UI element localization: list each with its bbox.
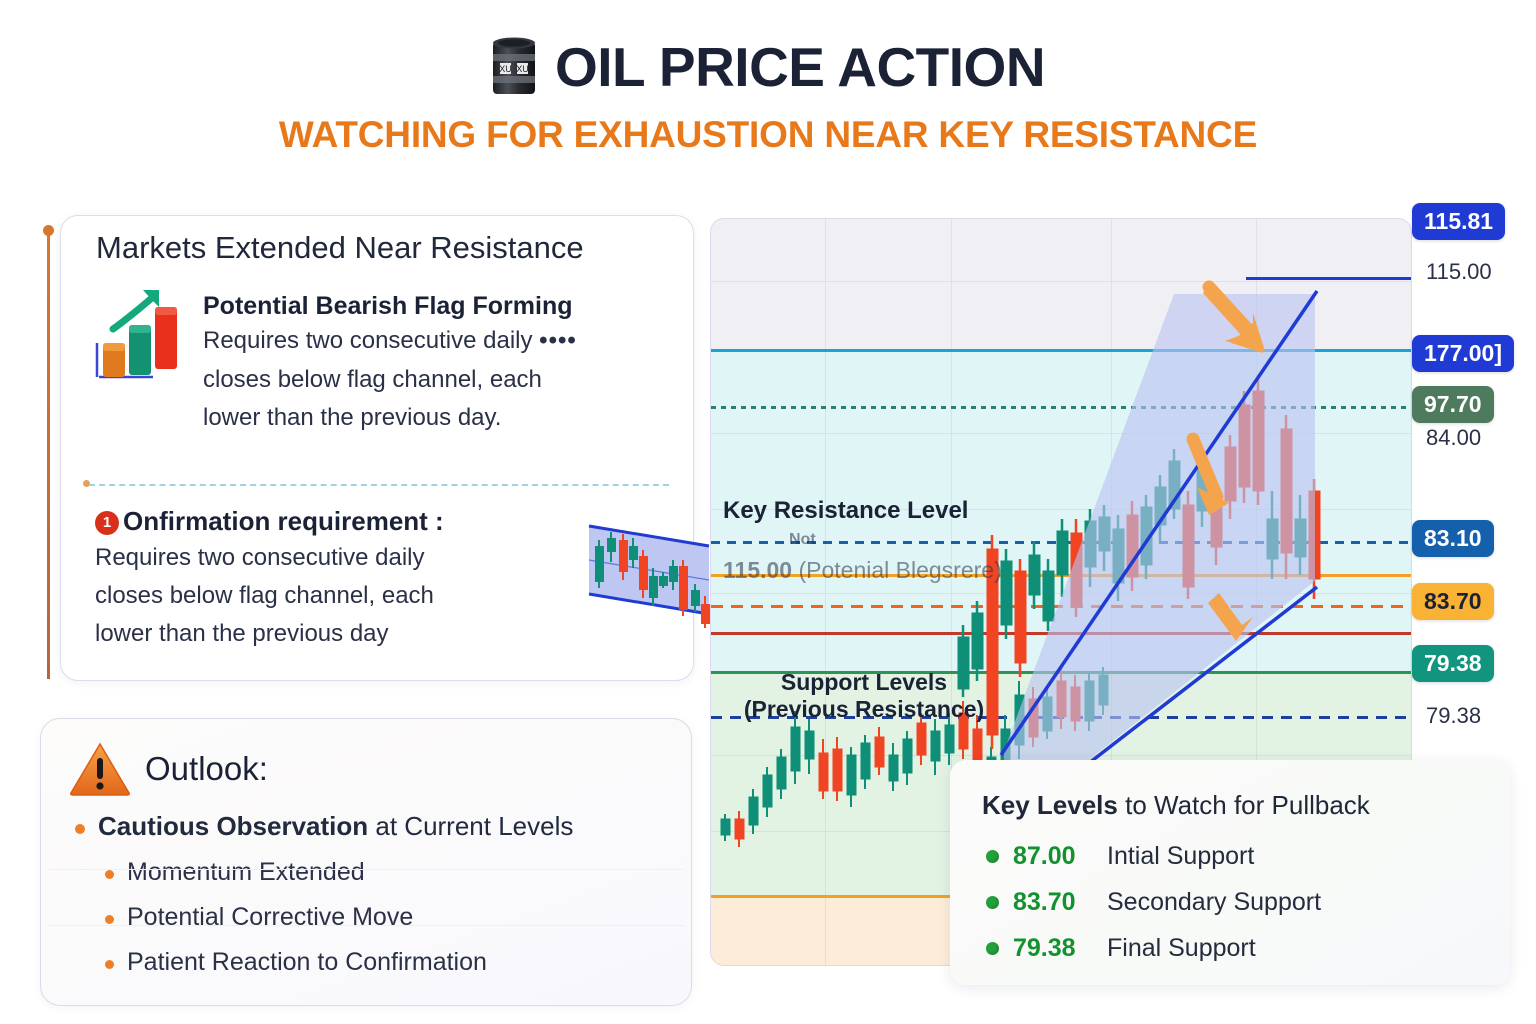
annotation-support-levels: Support Levels (Previous Resistance) [729, 669, 999, 723]
bullet-dot-icon [105, 915, 114, 924]
bearish-flag-line1: Requires two consecutive daily [203, 327, 533, 354]
outlook-subitem-2: Patient Reaction to Confirmation [105, 948, 675, 977]
price-axis: 115.81 115.00 177.00] 97.70 84.00 83.10 … [1412, 195, 1536, 755]
bearish-flag-line3: lower than the previous day. [203, 404, 501, 431]
outlook-subitem-1: Potential Corrective Move [105, 903, 675, 932]
key-level-value: 79.38 [1013, 934, 1093, 963]
axis-pill-79-38[interactable]: 79.38 [1412, 645, 1494, 682]
annotation-key-resistance: Key Resistance Level [723, 497, 968, 525]
annotation-support-line1: Support Levels [781, 669, 947, 695]
bearish-flag-bullet: Potential Bearish Flag Forming Requires … [91, 281, 671, 437]
bearish-flag-line2: closes below flag channel, each [203, 366, 542, 393]
key-level-label: Final Support [1107, 934, 1256, 963]
green-dot-icon [986, 850, 999, 863]
annotation-blurred-level: 115.00 [723, 557, 792, 583]
annotation-blurred-small: Not [789, 531, 816, 549]
key-level-label: Secondary Support [1107, 888, 1321, 917]
page-title: OIL PRICE ACTION [555, 40, 1045, 95]
page-subtitle: WATCHING FOR EXHAUSTION NEAR KEY RESISTA… [0, 114, 1536, 156]
svg-text:XU: XU [516, 64, 529, 74]
green-dot-icon [986, 942, 999, 955]
outlook-main-bold: Cautious Observation [98, 811, 368, 841]
bearish-flag-title: Potential Bearish Flag Forming [203, 291, 577, 322]
axis-pill-97-70[interactable]: 97.70 [1412, 386, 1494, 423]
down-arrow-upper-icon [1201, 277, 1281, 367]
title-row: XU XU OIL PRICE ACTION [0, 36, 1536, 98]
key-levels-title-bold: Key Levels [982, 790, 1118, 820]
section-heading: Markets Extended Near Resistance [96, 230, 584, 266]
down-arrow-lower-icon [1181, 431, 1251, 521]
svg-text:XU: XU [499, 64, 512, 74]
outlook-header: Outlook: [69, 741, 268, 797]
outlook-subitem-0: Momentum Extended [105, 858, 675, 887]
axis-pill-115-81[interactable]: 115.81 [1412, 203, 1505, 240]
confirmation-title: Onfirmation requirement : [123, 506, 444, 537]
annotation-support-line2: (Previous Resistance) [744, 696, 984, 722]
number-badge-icon: 1 [95, 511, 119, 535]
descending-channel-candlestick-thumbnail [585, 518, 717, 638]
ellipsis-dots: •••• [539, 327, 577, 354]
confirmation-line2: closes below flag channel, each [95, 582, 434, 609]
card-divider [89, 484, 669, 486]
green-dot-icon [986, 896, 999, 909]
analysis-card: Markets Extended Near Resistance Pote [60, 215, 694, 681]
outlook-label: Outlook: [145, 750, 268, 788]
warning-triangle-icon [69, 741, 131, 797]
axis-pill-83-10[interactable]: 83.10 [1412, 520, 1494, 557]
bullet-dot-icon [105, 870, 114, 879]
outlook-subitem-label: Patient Reaction to Confirmation [127, 948, 487, 977]
outlook-subitem-label: Potential Corrective Move [127, 903, 413, 932]
confirmation-line1: Requires two consecutive daily [95, 544, 425, 571]
axis-pill-83-70[interactable]: 83.70 [1412, 583, 1494, 620]
timeline-start-dot [43, 225, 54, 236]
outlook-rule [49, 869, 685, 870]
page-header: XU XU OIL PRICE ACTION WATCHING FOR EXHA… [0, 0, 1536, 185]
axis-label-115-00: 115.00 [1426, 259, 1492, 285]
outlook-main-rest: at Current Levels [368, 811, 573, 841]
annotation-breakout-row: 115.00 (Potenial Blegsrere) [723, 557, 1002, 584]
oil-barrel-icon: XU XU [491, 36, 537, 98]
outlook-subitem-label: Momentum Extended [127, 858, 365, 887]
axis-label-84-00: 84.00 [1426, 425, 1481, 451]
key-levels-panel: Key Levels to Watch for Pullback 87.00 I… [950, 760, 1510, 985]
key-level-row-0: 87.00 Intial Support [986, 842, 1254, 871]
confirmation-block: 1 Onfirmation requirement : Requires two… [95, 506, 685, 653]
key-level-row-2: 79.38 Final Support [986, 934, 1256, 963]
key-level-value: 87.00 [1013, 842, 1093, 871]
confirmation-body: Requires two consecutive daily closes be… [95, 539, 545, 653]
bearish-flag-text: Potential Bearish Flag Forming Requires … [203, 281, 577, 437]
outlook-main-text: Cautious Observation at Current Levels [98, 811, 573, 842]
key-level-label: Intial Support [1107, 842, 1254, 871]
outlook-rule [49, 925, 685, 926]
key-levels-title: Key Levels to Watch for Pullback [982, 790, 1370, 821]
key-level-row-1: 83.70 Secondary Support [986, 888, 1321, 917]
bullet-dot-icon [105, 960, 114, 969]
key-levels-title-rest: to Watch for Pullback [1118, 790, 1370, 820]
bullet-dot-icon [75, 824, 85, 834]
outlook-main-item: Cautious Observation at Current Levels [75, 811, 675, 842]
annotation-potential-breakout: (Potenial Blegsrere) [798, 557, 1001, 583]
axis-label-79-38: 79.38 [1426, 703, 1481, 729]
growth-bar-chart-icon [91, 285, 187, 383]
outlook-card: Outlook: Cautious Observation at Current… [40, 718, 692, 1006]
bearish-flag-body: Requires two consecutive daily •••• clos… [203, 322, 577, 437]
timeline-rail [47, 227, 50, 679]
axis-pill-177-00[interactable]: 177.00] [1412, 335, 1514, 372]
confirmation-line3: lower than the previous day [95, 620, 389, 647]
outlook-list: Cautious Observation at Current Levels M… [75, 811, 675, 977]
key-level-value: 83.70 [1013, 888, 1093, 917]
